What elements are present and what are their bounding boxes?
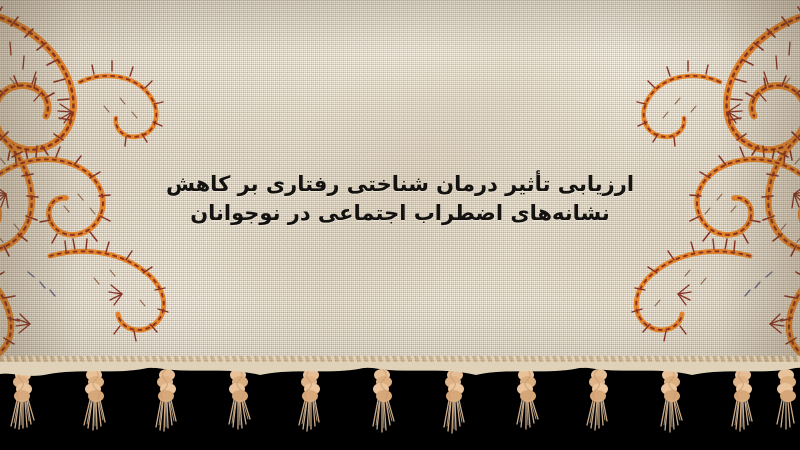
tassel	[772, 368, 800, 448]
tassel	[80, 368, 110, 448]
tassel	[224, 368, 254, 448]
tassel	[8, 368, 38, 448]
tassel	[584, 368, 614, 448]
title-line-1: ارزیابی تأثیر درمان شناختی رفتاری بر کاه…	[0, 170, 800, 199]
tassel	[656, 368, 686, 448]
tassel	[368, 368, 398, 448]
cover-title: ارزیابی تأثیر درمان شناختی رفتاری بر کاه…	[0, 170, 800, 228]
cover-canvas: ارزیابی تأثیر درمان شناختی رفتاری بر کاه…	[0, 0, 800, 450]
tassel-fringe	[0, 368, 800, 450]
tassel	[152, 368, 182, 448]
title-line-2: نشانه‌های اضطراب اجتماعی در نوجوانان	[0, 199, 800, 228]
tassel	[728, 368, 758, 448]
tassel	[440, 368, 470, 448]
tassel	[296, 368, 326, 448]
tassel	[512, 368, 542, 448]
